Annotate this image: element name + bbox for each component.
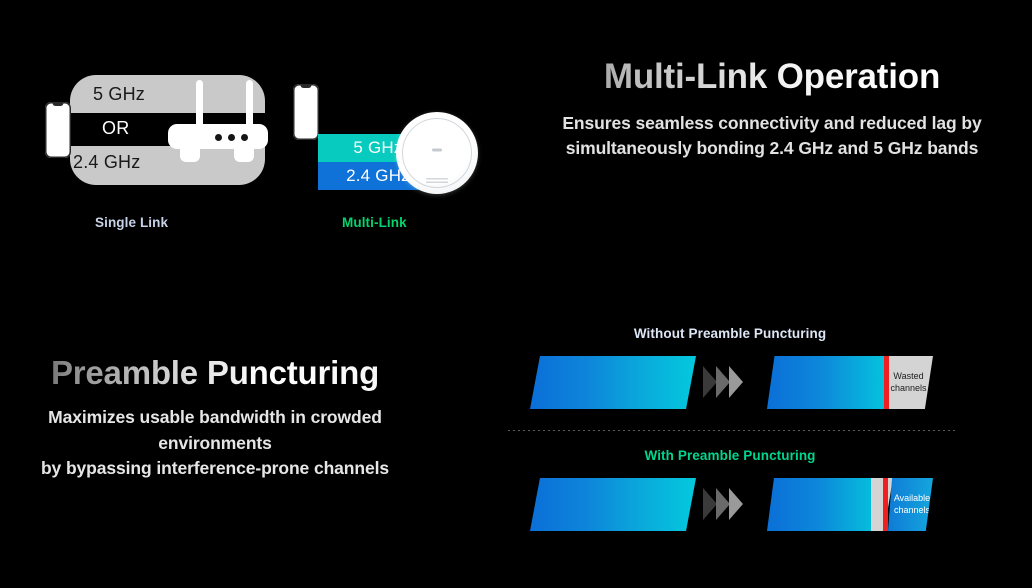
without-puncturing-row: Without Preamble Puncturing Wastedchanne… <box>495 318 1032 428</box>
phone-notch <box>53 102 64 106</box>
wasted-channels-line-2: channels <box>890 383 926 394</box>
mlo-subtitle-line-2: simultaneously bonding 2.4 GHz and 5 GHz… <box>512 136 1032 162</box>
chevron-right-icon <box>729 366 743 398</box>
without-channel-block-before <box>530 356 696 409</box>
with-puncturing-row: With Preamble Puncturing Availablechanne… <box>495 440 1032 550</box>
router-antenna-left <box>196 80 203 128</box>
router-antenna-right <box>246 80 253 128</box>
smartphone-icon <box>293 84 319 140</box>
infographic-canvas: 5 GHz OR 2.4 GHz <box>0 0 1032 588</box>
usable-bandwidth-segment <box>767 356 888 409</box>
single-link-or-label: OR <box>102 118 129 139</box>
available-channels-line-1: Available <box>894 493 930 504</box>
preamble-puncturing-subtitle: Maximizes usable bandwidth in crowded en… <box>0 405 430 482</box>
without-channel-block-after: Wastedchannels <box>767 356 933 409</box>
without-puncturing-heading: Without Preamble Puncturing <box>495 326 965 341</box>
available-channels-line-2: channels <box>894 505 930 516</box>
router-led-2 <box>228 134 235 141</box>
router-leg-right <box>234 148 254 162</box>
router-leg-left <box>180 148 200 162</box>
single-link-band-5ghz-label: 5 GHz <box>93 84 145 105</box>
preamble-puncturing-text-block: Preamble Puncturing Maximizes usable ban… <box>0 355 430 482</box>
single-link-band-24ghz-label: 2.4 GHz <box>73 152 140 173</box>
chevron-right-icon <box>703 488 717 520</box>
multi-link-illustration: 5 GHz 2.4 GHz <box>293 62 483 185</box>
wasted-channels-label: Wastedchannels <box>890 371 930 394</box>
chevron-right-icon <box>729 488 743 520</box>
chevron-arrows-icon <box>703 366 753 398</box>
router-icon <box>168 80 268 172</box>
wasted-channels-line-1: Wasted <box>890 371 926 382</box>
pp-subtitle-line-1: Maximizes usable bandwidth in crowded <box>0 405 430 431</box>
mlo-text-block: Multi-Link Operation Ensures seamless co… <box>512 58 1032 162</box>
interference-marker <box>883 478 888 531</box>
section-divider <box>508 430 955 431</box>
access-point-brandmark <box>426 178 448 185</box>
with-channel-block-before <box>530 478 696 531</box>
mlo-subtitle: Ensures seamless connectivity and reduce… <box>512 111 1032 162</box>
multi-link-diagram: 5 GHz OR 2.4 GHz <box>0 40 510 205</box>
chevron-right-icon <box>716 366 730 398</box>
with-puncturing-heading: With Preamble Puncturing <box>495 448 965 463</box>
single-link-caption: Single Link <box>95 215 168 230</box>
access-point-center-mark <box>432 148 442 151</box>
usable-bandwidth-segment <box>767 478 876 531</box>
multi-link-caption: Multi-Link <box>342 215 407 230</box>
pp-subtitle-line-2: environments <box>0 431 430 457</box>
phone-notch <box>301 84 312 88</box>
preamble-puncturing-diagrams: Without Preamble Puncturing Wastedchanne… <box>495 318 1032 568</box>
available-channels-segment: Availablechannels <box>888 478 933 531</box>
interference-marker <box>884 356 889 409</box>
access-point-icon <box>396 112 478 194</box>
smartphone-icon <box>45 102 71 158</box>
chevron-right-icon <box>703 366 717 398</box>
mlo-subtitle-line-1: Ensures seamless connectivity and reduce… <box>512 111 1032 137</box>
single-link-illustration: 5 GHz OR 2.4 GHz <box>45 75 280 185</box>
available-channels-label: Availablechannels <box>891 493 930 516</box>
mlo-title: Multi-Link Operation <box>512 58 1032 97</box>
wasted-channels-segment: Wastedchannels <box>888 356 933 409</box>
with-channel-block-after: Availablechannels <box>767 478 933 531</box>
preamble-puncturing-title: Preamble Puncturing <box>0 355 430 392</box>
chevron-right-icon <box>716 488 730 520</box>
router-led-1 <box>215 134 222 141</box>
router-led-3 <box>241 134 248 141</box>
chevron-arrows-icon <box>703 488 753 520</box>
pp-subtitle-line-3: by bypassing interference-prone channels <box>0 456 430 482</box>
